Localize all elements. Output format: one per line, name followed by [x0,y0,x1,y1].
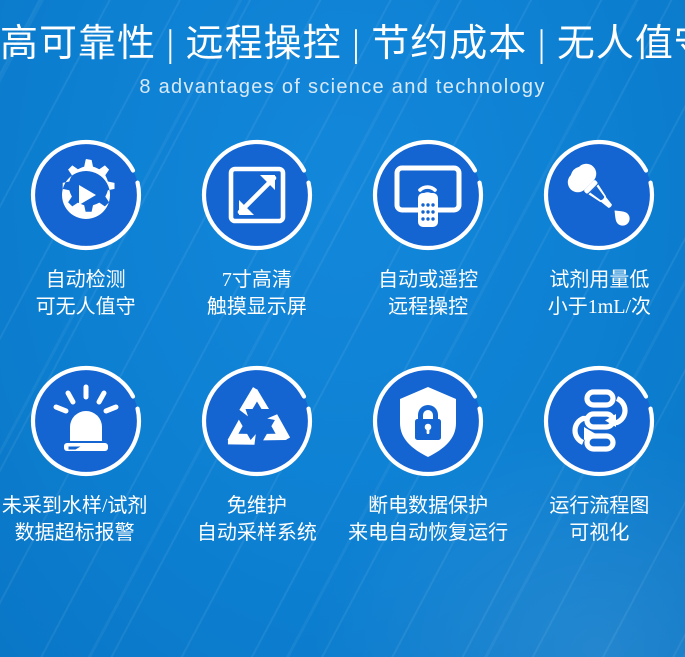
feature-caption-line2: 远程操控 [378,294,478,321]
feature-caption-line1: 自动检测 [46,269,126,291]
header: 高可靠性 | 远程操控 | 节约成本 | 无人值守 8 advantages o… [0,0,685,99]
feature-item-auto-detection: 自动检测 可无人值守 [0,137,171,321]
feature-caption-line2: 来电自动恢复运行 [348,520,508,547]
feature-caption-line2: 可视化 [549,520,649,547]
feature-caption: 运行流程图 可视化 [549,493,649,547]
feature-caption: 断电数据保护 来电自动恢复运行 [348,493,508,547]
feature-item-power-protection: 断电数据保护 来电自动恢复运行 [343,363,514,547]
feature-grid: 自动检测 可无人值守 7寸高清 触摸显示屏 [0,137,685,547]
feature-item-maintenance-free: 免维护 自动采样系统 [171,363,342,547]
gear-play-icon [28,137,144,253]
feature-item-touchscreen: 7寸高清 触摸显示屏 [171,137,342,321]
feature-caption-line1: 试剂用量低 [549,269,649,291]
feature-caption-line1: 未采到水样/试剂 [2,495,148,517]
feature-caption-line2: 数据超标报警 [2,520,148,547]
feature-caption-line1: 7寸高清 [222,269,292,291]
feature-caption: 未采到水样/试剂 数据超标报警 [2,493,148,547]
dropper-pipette-icon [541,137,657,253]
recycle-icon [199,363,315,479]
feature-caption-line2: 自动采样系统 [197,520,317,547]
feature-item-flowchart: 运行流程图 可视化 [514,363,685,547]
feature-caption-line1: 自动或遥控 [378,269,478,291]
flowchart-loop-icon [541,363,657,479]
page-subtitle: 8 advantages of science and technology [0,76,685,99]
feature-caption-line1: 断电数据保护 [368,495,488,517]
shield-lock-icon [370,363,486,479]
feature-caption-line2: 可无人值守 [36,294,136,321]
feature-caption: 自动或遥控 远程操控 [378,267,478,321]
page-title: 高可靠性 | 远程操控 | 节约成本 | 无人值守 [0,22,685,67]
poster-canvas: 高可靠性 | 远程操控 | 节约成本 | 无人值守 8 advantages o… [0,0,685,657]
feature-caption: 试剂用量低 小于1mL/次 [548,267,651,321]
alarm-siren-icon [28,363,144,479]
feature-caption: 免维护 自动采样系统 [197,493,317,547]
feature-item-remote-control: 自动或遥控 远程操控 [343,137,514,321]
expand-screen-icon [199,137,315,253]
feature-caption: 自动检测 可无人值守 [36,267,136,321]
tv-remote-wifi-icon [370,137,486,253]
feature-caption-line2: 小于1mL/次 [548,294,651,321]
feature-caption-line2: 触摸显示屏 [207,294,307,321]
feature-item-alarm: 未采到水样/试剂 数据超标报警 [0,363,171,547]
feature-item-reagent-usage: 试剂用量低 小于1mL/次 [514,137,685,321]
feature-caption-line1: 免维护 [227,495,287,517]
feature-caption-line1: 运行流程图 [549,495,649,517]
feature-caption: 7寸高清 触摸显示屏 [207,267,307,321]
